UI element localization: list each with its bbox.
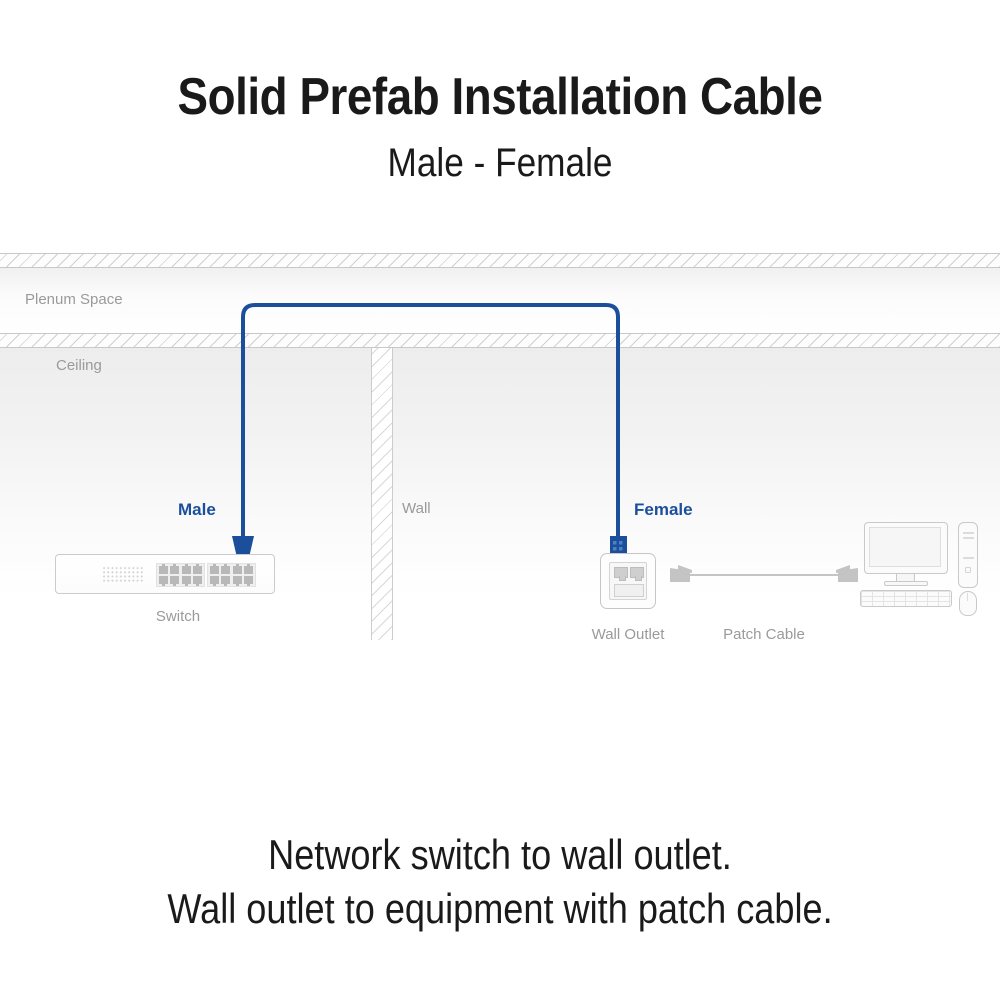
ceiling-hatch (0, 333, 1000, 348)
network-switch (55, 554, 275, 594)
port-row (159, 566, 202, 574)
mouse-icon (959, 591, 977, 616)
switch-port (221, 566, 230, 574)
monitor-icon (864, 522, 948, 574)
wall-label: Wall (402, 500, 431, 517)
switch-port (170, 576, 179, 584)
outlet-faceplate (609, 562, 647, 600)
switch-label: Switch (110, 608, 246, 625)
switch-port (182, 576, 191, 584)
desktop-computer (858, 518, 992, 608)
female-connector-label: Female (634, 500, 693, 520)
plenum-upper-boundary-hatch (0, 253, 1000, 268)
caption-line-1: Network switch to wall outlet. (70, 828, 930, 882)
switch-port (170, 566, 179, 574)
pc-tower-icon (958, 522, 978, 588)
switch-port (233, 566, 242, 574)
switch-port (244, 566, 253, 574)
switch-port (221, 576, 230, 584)
switch-port-block-left (156, 563, 205, 587)
switch-port-block-right (207, 563, 256, 587)
keyboard-icon (860, 590, 952, 607)
switch-port (159, 566, 168, 574)
ceiling-label: Ceiling (56, 357, 102, 374)
switch-port (182, 566, 191, 574)
switch-port (210, 576, 219, 584)
switch-port (210, 566, 219, 574)
rj45-keystone-jack (614, 567, 628, 578)
wall-outlet (600, 553, 656, 609)
port-row (159, 576, 202, 584)
outlet-label-strip (614, 584, 644, 597)
tower-drive-slot (963, 557, 974, 559)
switch-port (159, 576, 168, 584)
mouse-button-divider (967, 593, 968, 601)
rj45-keystone-jack (630, 567, 644, 578)
tower-drive-slot (963, 532, 974, 534)
caption-block: Network switch to wall outlet. Wall outl… (70, 828, 930, 936)
plenum-space-region (0, 268, 1000, 333)
wall-column (371, 348, 393, 640)
diagram-page: Solid Prefab Installation Cable Male - F… (0, 0, 1000, 1000)
monitor-screen (869, 527, 941, 567)
monitor-stand-base (884, 581, 928, 586)
plenum-space-label: Plenum Space (25, 291, 123, 308)
patch-cable-label: Patch Cable (700, 626, 828, 643)
switch-vent-grille (102, 566, 144, 583)
switch-port (193, 566, 202, 574)
wall-outlet-label: Wall Outlet (565, 626, 691, 643)
tower-drive-slot (963, 537, 974, 539)
tower-power-button (965, 567, 971, 573)
port-row (210, 576, 253, 584)
caption-line-2: Wall outlet to equipment with patch cabl… (70, 882, 930, 936)
switch-port (233, 576, 242, 584)
switch-port (193, 576, 202, 584)
male-connector-label: Male (178, 500, 216, 520)
port-row (210, 566, 253, 574)
switch-port (244, 576, 253, 584)
